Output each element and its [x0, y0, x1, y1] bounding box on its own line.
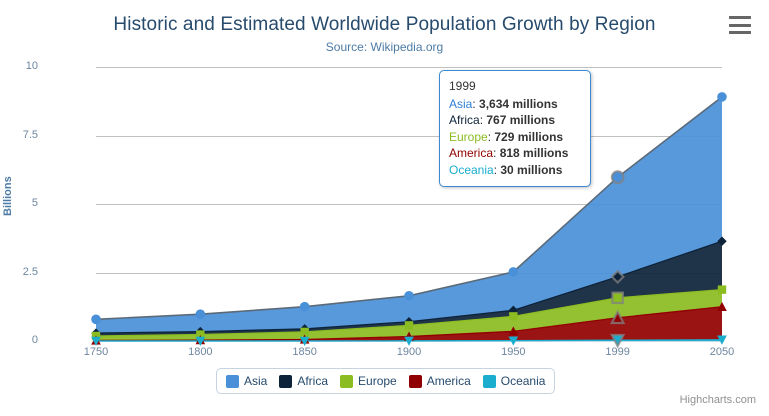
legend-swatch-icon	[409, 375, 422, 388]
tooltip-series-name: America	[449, 146, 493, 160]
legend-label: Oceania	[501, 374, 546, 388]
tooltip: 1999 Asia: 3,634 millionsAfrica: 767 mil…	[439, 70, 591, 187]
x-axis-tick-label: 1800	[165, 346, 235, 358]
marker-asia[interactable]	[91, 315, 101, 325]
credits-label: Highcharts.com	[680, 394, 756, 406]
tooltip-series-name: Africa	[449, 113, 480, 127]
tooltip-series-value: 3,634 millions	[479, 97, 558, 111]
marker-asia[interactable]	[717, 92, 727, 102]
marker-asia[interactable]	[612, 171, 624, 183]
tooltip-row: Asia: 3,634 millions	[449, 96, 581, 113]
marker-europe[interactable]	[612, 293, 622, 303]
y-axis-tick-label: 5	[0, 197, 38, 209]
legend-swatch-icon	[340, 375, 353, 388]
legend-item-europe[interactable]: Europe	[340, 374, 397, 388]
tooltip-separator: :	[472, 97, 479, 111]
x-axis-tick-label: 1750	[61, 346, 131, 358]
marker-oceania[interactable]	[612, 335, 624, 346]
y-axis-tick-label: 10	[0, 60, 38, 72]
hamburger-menu-icon[interactable]	[729, 16, 751, 34]
legend-label: Asia	[244, 374, 267, 388]
tooltip-row: Oceania: 30 millions	[449, 162, 581, 179]
tooltip-separator: :	[493, 146, 500, 160]
tooltip-row: Europe: 729 millions	[449, 129, 581, 146]
x-axis-tick-label: 2050	[687, 346, 757, 358]
tooltip-series-name: Oceania	[449, 163, 494, 177]
marker-asia[interactable]	[196, 309, 206, 319]
x-axis-tick-label: 1900	[374, 346, 444, 358]
legend: AsiaAfricaEuropeAmericaOceania	[216, 368, 555, 394]
hamburger-bar	[729, 24, 751, 27]
tooltip-rows: Asia: 3,634 millionsAfrica: 767 millions…	[449, 96, 581, 179]
legend-label: Europe	[358, 374, 397, 388]
x-axis-tick-label: 1950	[478, 346, 548, 358]
series-layer	[96, 67, 722, 341]
legend-swatch-icon	[483, 375, 496, 388]
legend-item-africa[interactable]: Africa	[279, 374, 328, 388]
tooltip-series-name: Asia	[449, 97, 472, 111]
marker-europe[interactable]	[405, 321, 413, 329]
legend-swatch-icon	[226, 375, 239, 388]
y-axis-tick-label: 7.5	[0, 129, 38, 141]
legend-item-oceania[interactable]: Oceania	[483, 374, 546, 388]
tooltip-row: America: 818 millions	[449, 145, 581, 162]
page-title: Historic and Estimated Worldwide Populat…	[0, 14, 769, 36]
plot-area	[96, 67, 722, 341]
y-axis-tick-label: 2.5	[0, 266, 38, 278]
legend-item-america[interactable]: America	[409, 374, 471, 388]
tooltip-row: Africa: 767 millions	[449, 112, 581, 129]
tooltip-series-value: 818 millions	[500, 146, 569, 160]
y-axis-tick-label: 0	[0, 334, 38, 346]
legend-label: Africa	[297, 374, 328, 388]
marker-asia[interactable]	[404, 291, 414, 301]
x-axis-tick-label: 1850	[270, 346, 340, 358]
hamburger-bar	[729, 31, 751, 34]
marker-europe[interactable]	[718, 285, 726, 293]
tooltip-series-value: 30 millions	[500, 163, 562, 177]
marker-asia[interactable]	[509, 267, 519, 277]
tooltip-header: 1999	[449, 78, 581, 95]
hamburger-bar	[729, 16, 751, 19]
tooltip-series-value: 767 millions	[486, 113, 555, 127]
tooltip-series-value: 729 millions	[494, 130, 563, 144]
marker-asia[interactable]	[300, 302, 310, 312]
tooltip-series-name: Europe	[449, 130, 488, 144]
chart-subtitle: Source: Wikipedia.org	[0, 40, 769, 54]
legend-swatch-icon	[279, 375, 292, 388]
marker-europe[interactable]	[509, 312, 517, 320]
highcharts-container: Historic and Estimated Worldwide Populat…	[0, 0, 769, 416]
legend-label: America	[427, 374, 471, 388]
legend-item-asia[interactable]: Asia	[226, 374, 267, 388]
